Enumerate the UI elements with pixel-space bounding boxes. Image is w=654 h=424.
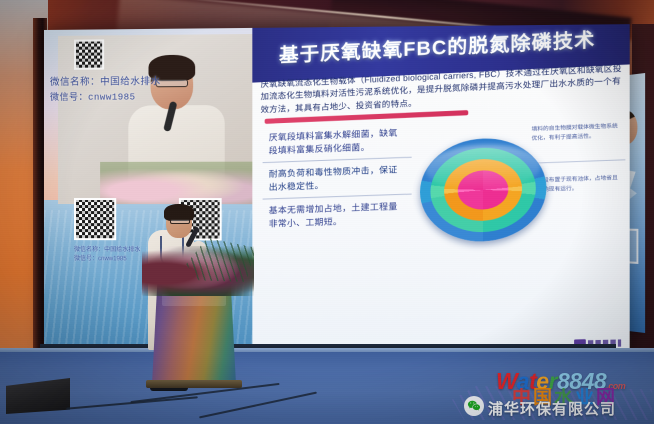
slide-bullet-2: 耐高负荷和毒性物质冲击，保证出水稳定性。 (269, 163, 401, 195)
slide-bullet-1: 厌氧段填料富集水解细菌，缺氧段填料富集反硝化细菌。 (269, 126, 401, 158)
conference-stage-photo: 微信名称：中国给水排水 微信号：cnww1985 微信名称：中国给水排水 微信号… (0, 0, 654, 424)
speaker-glasses (170, 219, 190, 224)
presentation-slide: 基于厌氧缺氧FBC的脱氮除磷技术 厌氧缺氧流态化生物载体（Fluidized b… (252, 24, 629, 358)
qr-code-overlay-top (74, 39, 104, 69)
led-screen: 微信名称：中国给水排水 微信号：cnww1985 微信名称：中国给水排水 微信号… (44, 24, 630, 358)
wechat-icon (464, 396, 484, 416)
watermark-company-cn: 浦华环保有限公司 (488, 398, 616, 419)
slide-bullet-3: 基本无需增加占地，土建工程量非常小、工期短。 (269, 200, 401, 231)
qr-code-left (74, 198, 116, 240)
podium-base (146, 380, 242, 388)
bullet-divider-2 (263, 194, 412, 200)
concentric-ring-diagram (414, 130, 553, 250)
wechat-name-line: 微信名称：中国给水排水 (50, 73, 161, 88)
qr-caption-name: 微信名称：中国给水排水 (74, 246, 140, 255)
qr-caption-id: 微信号：cnww1985 (74, 255, 127, 264)
wechat-id-line: 微信号：cnww1985 (50, 89, 136, 103)
